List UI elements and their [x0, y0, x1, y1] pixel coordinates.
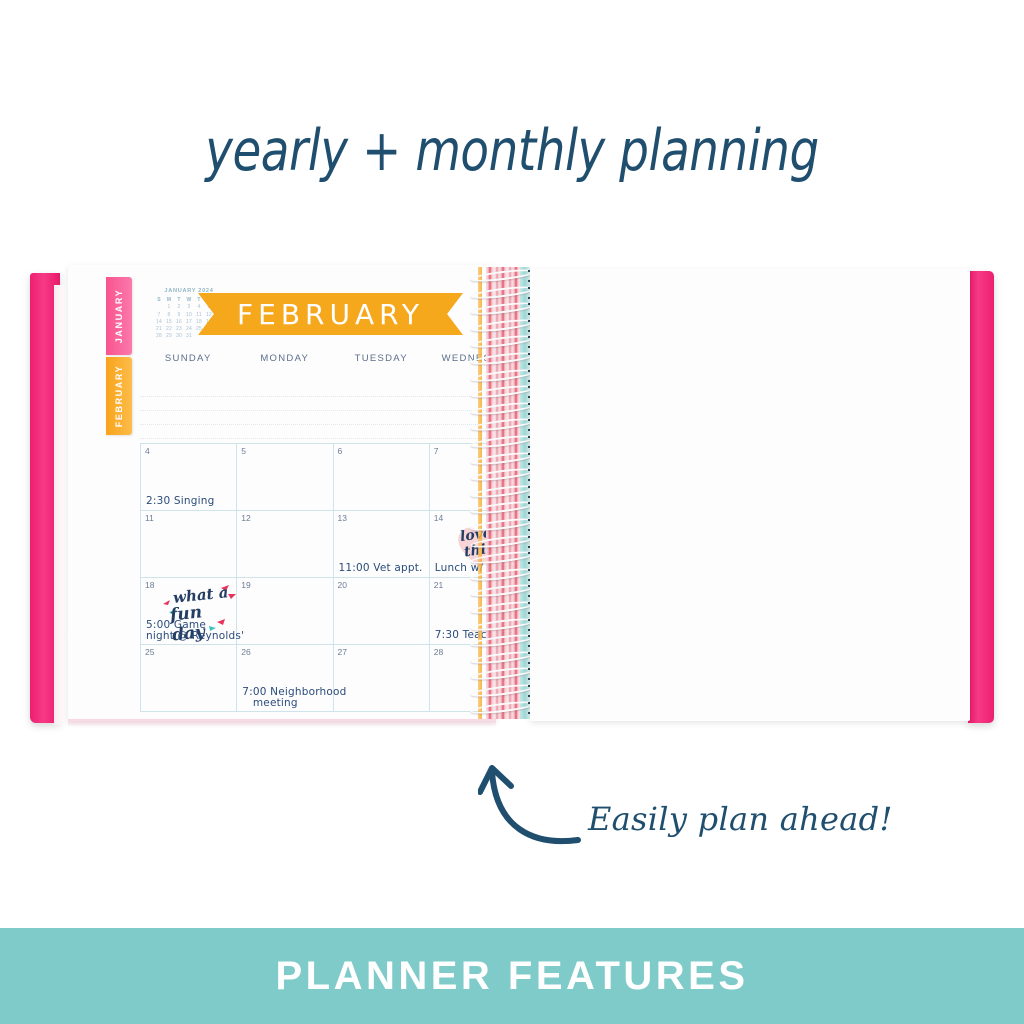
planner-front-cover — [30, 273, 60, 723]
mini-day — [154, 304, 164, 311]
mini-day: 31 — [184, 333, 194, 340]
left-page: JANUARY FEBRUARY JANUARY 2024 SMTWTFS123… — [68, 265, 496, 721]
month-tab-strip: JANUARY FEBRUARY — [106, 277, 134, 437]
calendar-day-cell[interactable]: 27 — [334, 645, 430, 712]
curved-arrow-icon — [478, 762, 588, 848]
weekday-header-sunday: SUNDAY — [140, 353, 237, 364]
calendar-day-cell[interactable]: 19 — [237, 578, 333, 645]
mini-day: 21 — [154, 326, 164, 333]
calendar-day-cell[interactable]: 11 — [141, 511, 237, 578]
mini-day: 23 — [174, 326, 184, 333]
mini-day: 3 — [184, 304, 194, 311]
mini-day: 28 — [154, 333, 164, 340]
day-number: 26 — [241, 647, 250, 657]
day-number: 27 — [338, 647, 347, 657]
calendar-day-cell[interactable]: 1311:00 Vet appt. — [334, 511, 430, 578]
month-banner: FEBRUARY — [198, 293, 463, 335]
calendar-day-cell[interactable]: 12 — [237, 511, 333, 578]
right-page: MARCH 2024 SMTWTFS1234567891011121314151… — [530, 269, 970, 721]
mini-day: 14 — [154, 319, 164, 326]
day-number: 12 — [241, 513, 250, 523]
calendar-day-cell[interactable]: 6 — [334, 444, 430, 511]
mini-day: 16 — [174, 319, 184, 326]
day-number: 20 — [338, 580, 347, 590]
day-number: 11 — [145, 513, 154, 523]
day-entry-text: 2:30 Singing — [146, 496, 233, 508]
month-banner-label: FEBRUARY — [237, 298, 424, 331]
mini-day: 7 — [154, 312, 164, 319]
mini-day: 9 — [174, 312, 184, 319]
planner-photo: JANUARY FEBRUARY JANUARY 2024 SMTWTFS123… — [30, 265, 994, 725]
day-number: 19 — [241, 580, 250, 590]
day-number: 4 — [145, 446, 150, 456]
mini-weekday: W — [184, 297, 194, 304]
page-title: yearly + monthly planning — [92, 118, 932, 184]
calendar-day-cell[interactable]: 18what afun day5:00 Gamenight @ Reynolds… — [141, 578, 237, 645]
day-entry-text: 5:00 Gamenight @ Reynolds' — [146, 620, 233, 644]
mini-weekday: T — [174, 297, 184, 304]
day-number: 13 — [338, 513, 347, 523]
day-number: 25 — [145, 647, 154, 657]
calendar-day-cell[interactable]: 42:30 Singing — [141, 444, 237, 511]
day-entry-text: 7:00 Neighborhood meeting — [242, 687, 329, 711]
tab-label-february: FEBRUARY — [114, 365, 124, 427]
calendar-day-cell[interactable]: 25 — [141, 645, 237, 712]
mini-weekday: M — [164, 297, 174, 304]
bottom-banner-label: PLANNER FEATURES — [275, 954, 748, 999]
mini-day: 24 — [184, 326, 194, 333]
mini-day: 29 — [164, 333, 174, 340]
sidebar-item-january[interactable]: JANUARY — [106, 277, 132, 355]
planner-back-cover — [968, 271, 994, 723]
mini-weekday: S — [154, 297, 164, 304]
mini-day: 15 — [164, 319, 174, 326]
weekday-header-monday: MONDAY — [237, 353, 334, 364]
day-number: 14 — [434, 513, 443, 523]
mini-day: 4 — [194, 304, 204, 311]
calendar-day-cell[interactable]: 20 — [334, 578, 430, 645]
day-number: 7 — [434, 446, 439, 456]
mini-day: 8 — [164, 312, 174, 319]
mini-day: 10 — [184, 312, 194, 319]
calendar-day-cell[interactable]: 5 — [237, 444, 333, 511]
day-number: 18 — [145, 580, 154, 590]
calendar-day-cell[interactable]: 267:00 Neighborhood meeting — [237, 645, 333, 712]
bottom-banner: PLANNER FEATURES — [0, 928, 1024, 1024]
sidebar-item-february[interactable]: FEBRUARY — [106, 357, 132, 435]
day-entry-text: 11:00 Vet appt. — [339, 563, 426, 575]
cover-inner-edge — [54, 285, 68, 725]
weekday-header-tuesday: TUESDAY — [333, 353, 430, 364]
mini-day: 1 — [164, 304, 174, 311]
tab-label-january: JANUARY — [114, 289, 124, 343]
mini-day: 30 — [174, 333, 184, 340]
mini-day: 18 — [194, 319, 204, 326]
callout-text: Easily plan ahead! — [588, 800, 893, 838]
day-number: 21 — [434, 580, 443, 590]
mini-day: 11 — [194, 312, 204, 319]
mini-day: 17 — [184, 319, 194, 326]
day-number: 6 — [338, 446, 343, 456]
mini-day: 2 — [174, 304, 184, 311]
day-number: 5 — [241, 446, 246, 456]
day-number: 28 — [434, 647, 443, 657]
mini-day: 22 — [164, 326, 174, 333]
